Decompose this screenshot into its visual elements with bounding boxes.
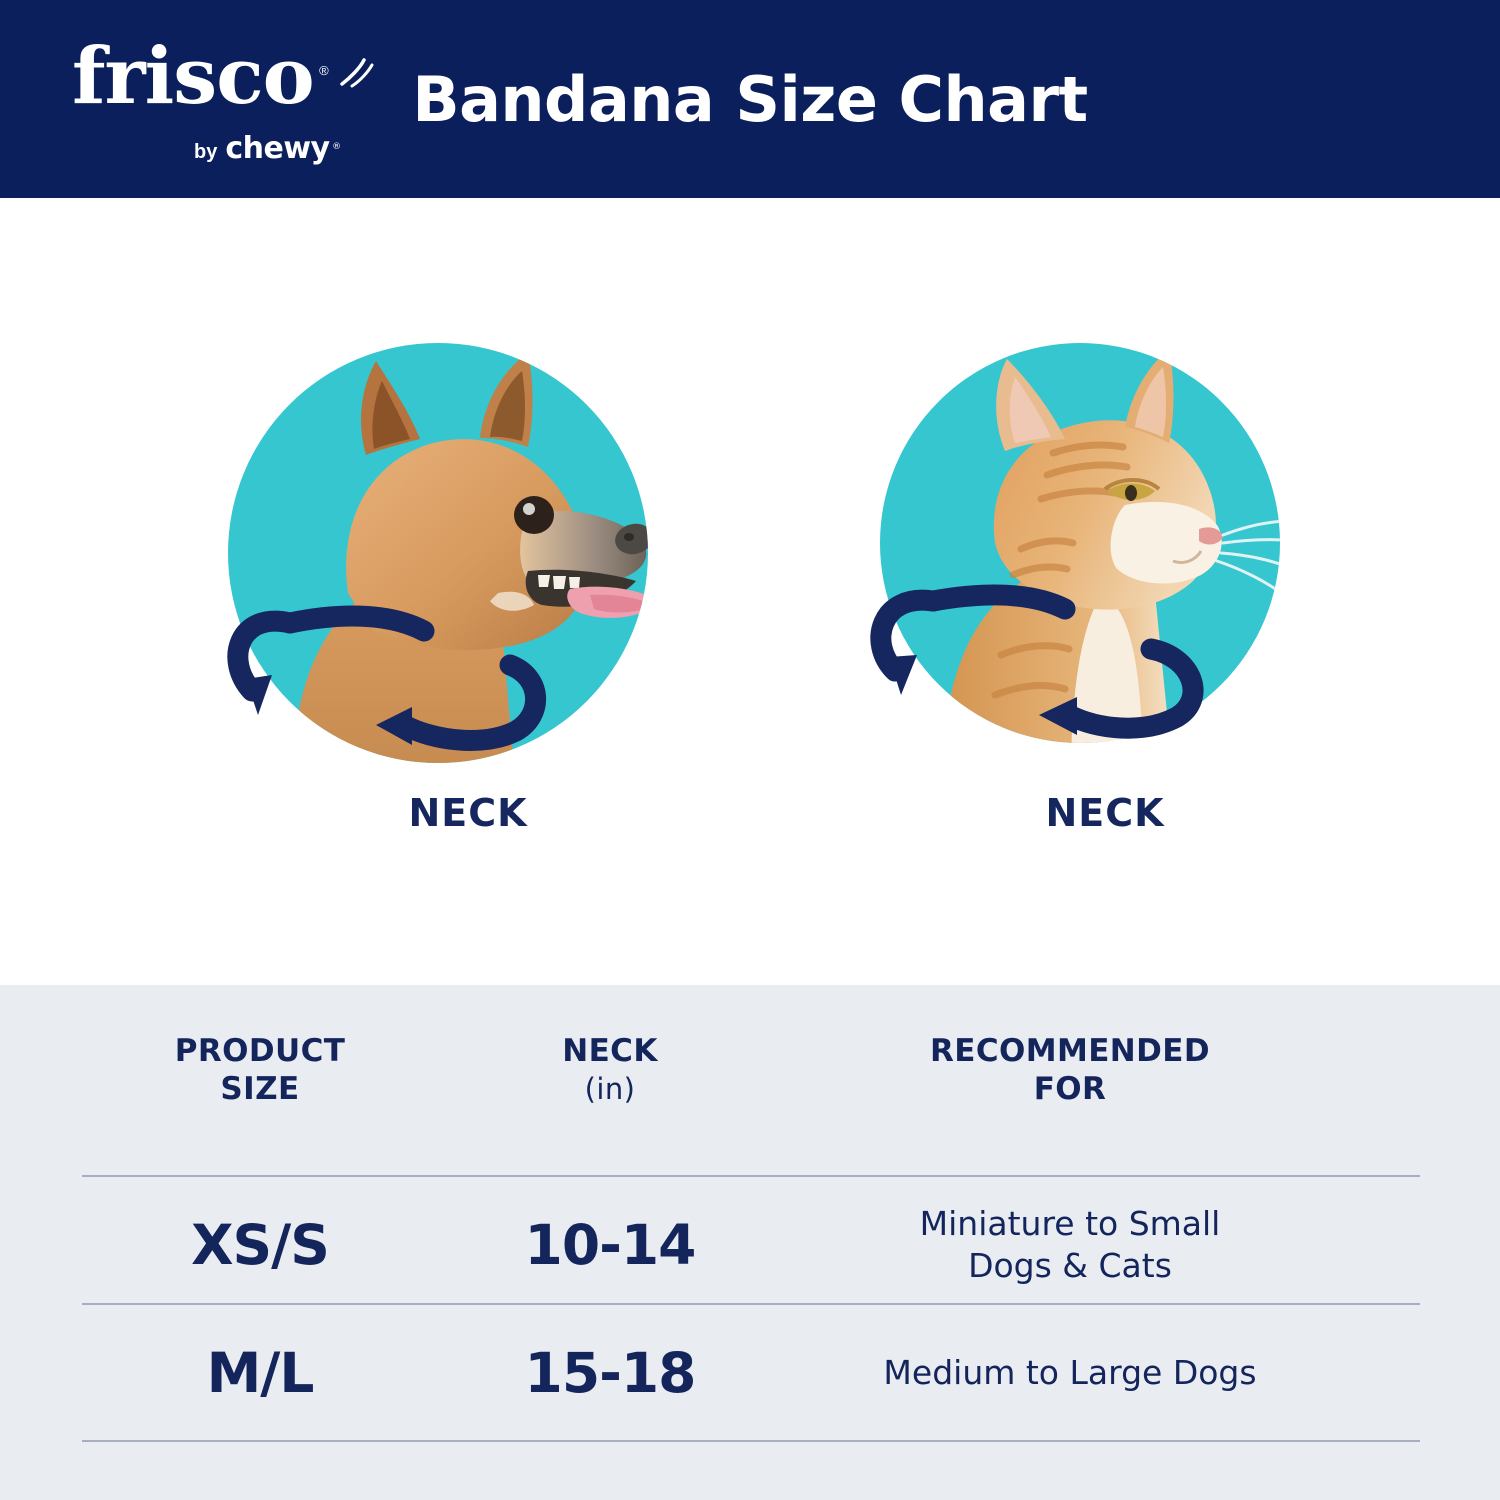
cell-recommended-for-line1: Medium to Large Dogs: [883, 1352, 1256, 1394]
cat-photo: [825, 343, 1295, 813]
dog-neck-label: NECK: [268, 791, 668, 835]
column-header-recommended-for: RECOMMENDED FOR: [780, 1032, 1360, 1108]
cell-recommended-for-line1: Miniature to Small: [920, 1203, 1221, 1245]
brand-name-text: frisco: [72, 31, 314, 122]
table-divider-middle: [82, 1303, 1420, 1305]
table-divider-top: [82, 1175, 1420, 1177]
brand-name: frisco ®: [72, 38, 314, 116]
chewy-text: chewy: [225, 131, 329, 166]
column-header-recommended-for-line1: RECOMMENDED: [930, 1032, 1210, 1070]
table-divider-bottom: [82, 1440, 1420, 1442]
cat-neck-label: NECK: [905, 791, 1305, 835]
cell-neck: 10-14: [440, 1213, 780, 1277]
dog-photo: [198, 343, 668, 813]
chewy-registered-trademark-icon: ®: [332, 132, 341, 162]
column-header-neck: NECK (in): [440, 1032, 780, 1108]
column-header-recommended-for-line2: FOR: [930, 1070, 1210, 1108]
cell-product-size: XS/S: [80, 1213, 440, 1277]
cell-recommended-for-line2: Dogs & Cats: [920, 1245, 1221, 1287]
illustrations-section: NECK: [0, 198, 1500, 985]
table-header-row: PRODUCT SIZE NECK (in) RECOMMENDED FOR: [0, 1015, 1500, 1125]
column-header-product-size: PRODUCT SIZE: [80, 1032, 440, 1108]
page-header: frisco ® by chewy ® Bandana Size Chart: [0, 0, 1500, 198]
size-table: PRODUCT SIZE NECK (in) RECOMMENDED FOR X…: [0, 985, 1500, 1500]
table-row: XS/S 10-14 Miniature to Small Dogs & Cat…: [0, 1181, 1500, 1309]
size-chart-page: frisco ® by chewy ® Bandana Size Chart: [0, 0, 1500, 1500]
frisco-logo: frisco ® by chewy ®: [72, 38, 372, 163]
column-header-product-size-line2: SIZE: [175, 1070, 346, 1108]
cat-illustration: NECK: [825, 343, 1295, 903]
column-header-neck-line1: NECK: [562, 1032, 658, 1070]
by-label: by: [194, 140, 217, 164]
cell-product-size: M/L: [80, 1341, 440, 1405]
by-chewy-lockup: by chewy ®: [194, 134, 330, 164]
dog-illustration: NECK: [198, 343, 668, 903]
registered-trademark-icon: ®: [319, 32, 328, 110]
chewy-wordmark: chewy ®: [225, 134, 329, 164]
column-header-product-size-line1: PRODUCT: [175, 1032, 346, 1070]
column-header-neck-unit: (in): [562, 1070, 658, 1108]
cell-recommended-for: Miniature to Small Dogs & Cats: [780, 1203, 1360, 1287]
cell-neck: 15-18: [440, 1341, 780, 1405]
table-row: M/L 15-18 Medium to Large Dogs: [0, 1309, 1500, 1437]
cell-recommended-for: Medium to Large Dogs: [780, 1352, 1360, 1394]
swoosh-icon: [340, 58, 374, 88]
